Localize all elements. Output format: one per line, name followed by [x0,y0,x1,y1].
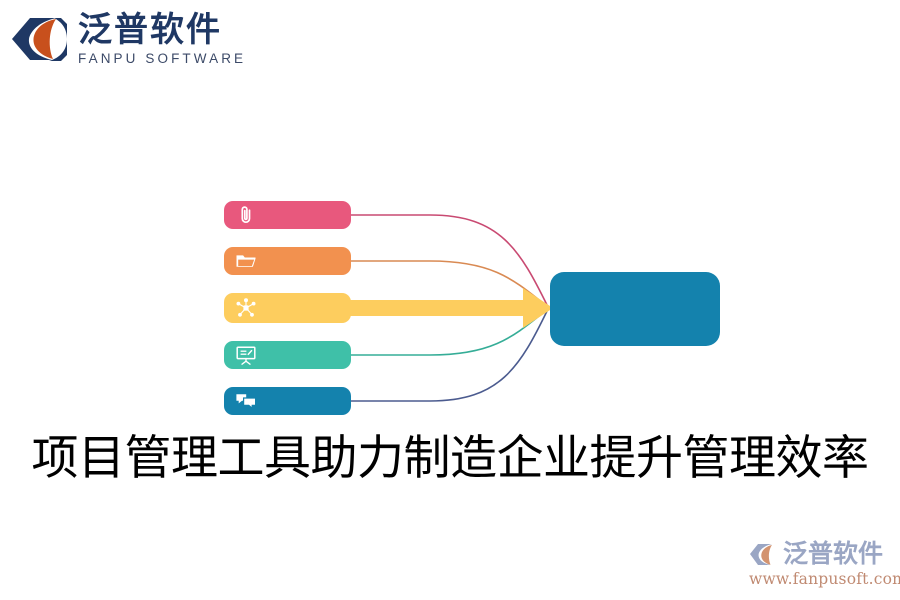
paperclip-icon [234,203,258,227]
page-root: 泛普软件 FANPU SOFTWARE [0,0,900,600]
flow-node-chat[interactable] [224,387,351,415]
page-title: 项目管理工具助力制造企业提升管理效率 [0,424,900,494]
flow-node-presentation[interactable] [224,341,351,369]
watermark-url: www.fanpusoft.com [749,571,894,588]
diagram-connectors [0,0,900,600]
converging-flow-diagram [0,0,900,600]
chat-bubbles-icon [234,389,258,413]
watermark: 泛普软件 www.fanpusoft.com [749,536,894,592]
flow-node-network-hub[interactable] [224,293,351,323]
network-hub-icon [234,296,258,320]
watermark-brand-row: 泛普软件 [749,536,894,570]
fanpu-watermark-mark-icon [749,540,779,566]
connector-arrow-highlight [339,288,553,328]
presentation-board-icon [234,343,258,367]
flow-node-paperclip[interactable] [224,201,351,229]
flow-node-folder[interactable] [224,247,351,275]
watermark-name-cn: 泛普软件 [783,541,883,566]
flow-hub-target[interactable] [550,272,720,346]
folder-icon [234,249,258,273]
